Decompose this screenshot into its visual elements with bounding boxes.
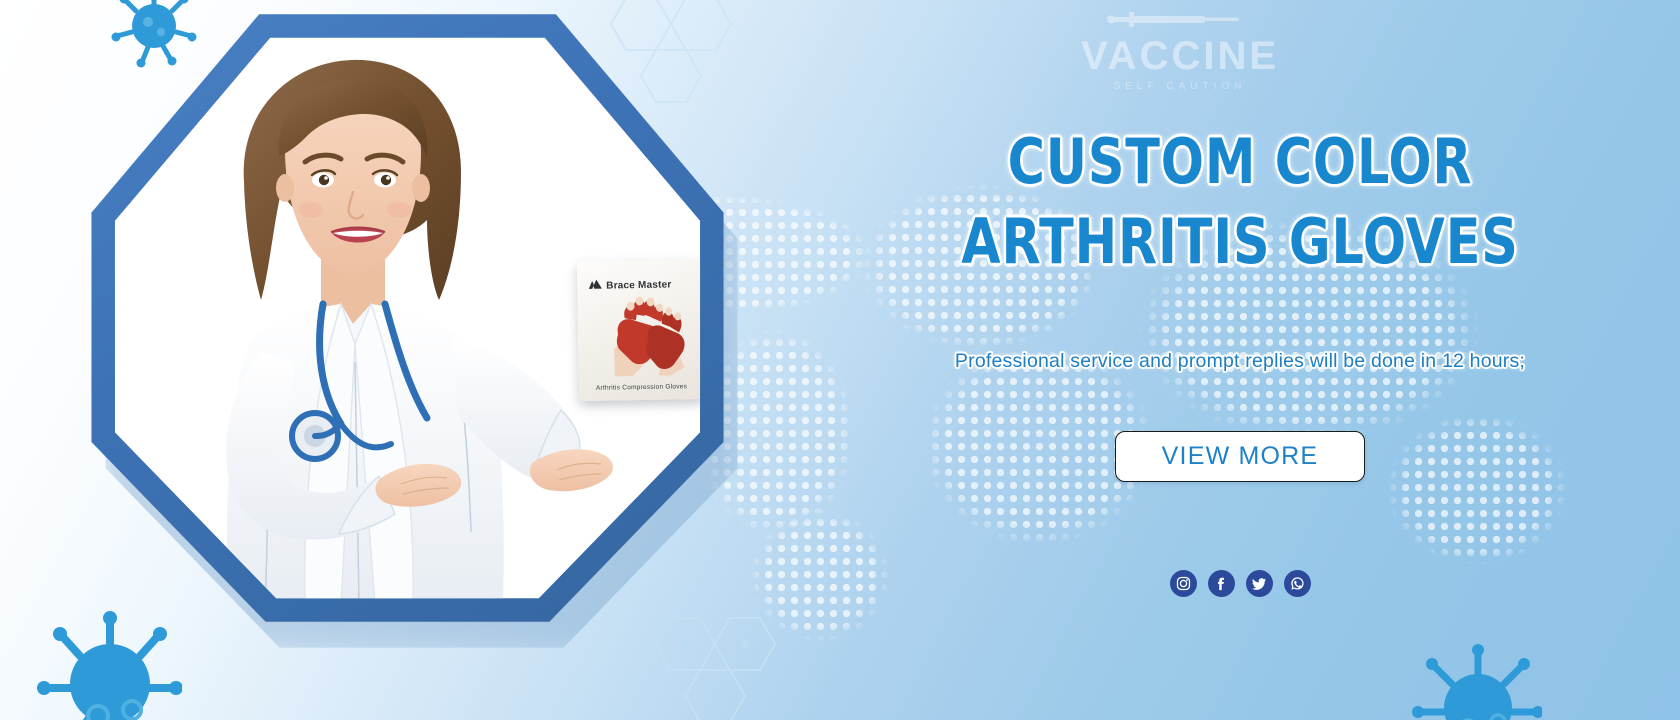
facebook-icon[interactable] <box>1208 570 1235 597</box>
promo-banner: VACCINE SELF CAUTION <box>0 0 1680 720</box>
page-title: CUSTOM COLOR ARTHRITIS GLOVES <box>879 131 1601 273</box>
product-package-card: Brace Master <box>577 259 704 401</box>
headline-line-2: ARTHRITIS GLOVES <box>879 211 1601 273</box>
headline-line-1: CUSTOM COLOR <box>879 131 1601 193</box>
subtitle-text: Professional service and prompt replies … <box>800 350 1680 373</box>
social-links <box>800 570 1680 597</box>
whatsapp-icon[interactable] <box>1284 570 1311 597</box>
brand-logo: Brace Master <box>588 275 672 294</box>
red-gloves-photo <box>591 295 690 377</box>
instagram-icon[interactable] <box>1170 570 1197 597</box>
mountain-logo-icon <box>588 277 602 295</box>
twitter-icon[interactable] <box>1246 570 1273 597</box>
view-more-button[interactable]: VIEW MORE <box>1115 431 1365 482</box>
doctor-photo-hexagon: Brace Master <box>85 8 765 668</box>
hexagon-inner-photo: Brace Master <box>109 32 706 604</box>
product-caption: Arthritis Compression Gloves <box>579 383 704 392</box>
hexagon-frame: Brace Master <box>85 8 730 628</box>
banner-content: CUSTOM COLOR ARTHRITIS GLOVES Profession… <box>800 0 1680 720</box>
brand-name: Brace Master <box>606 279 671 291</box>
cta-row: VIEW MORE <box>800 431 1680 482</box>
